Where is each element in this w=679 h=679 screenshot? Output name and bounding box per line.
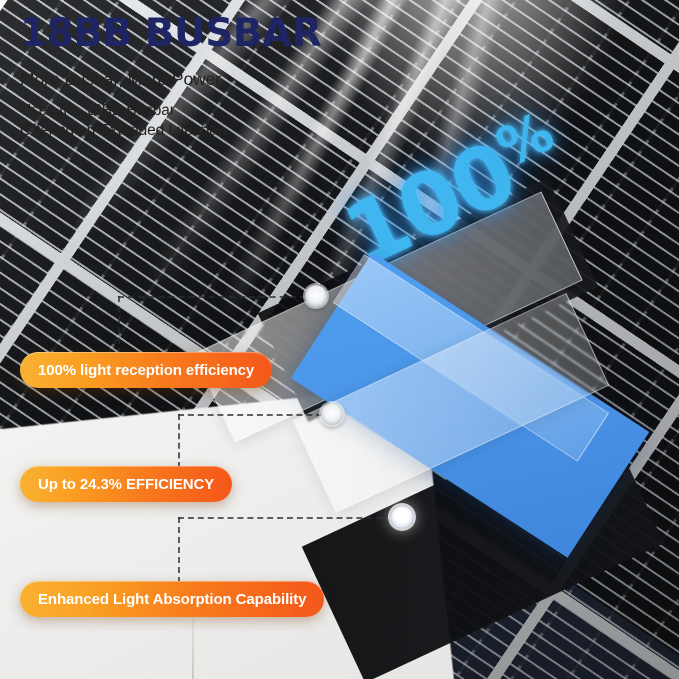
page-title: 18BB BUSBAR [20,14,440,55]
leader-line-2-vertical [178,414,180,468]
feature-badge-light-absorption[interactable]: Enhanced Light Absorption Capability [20,581,324,617]
leader-line-1-vertical [118,296,120,354]
marker-dot-middle [321,403,343,425]
feature-badge-label: Enhanced Light Absorption Capability [38,591,306,608]
marker-dot-top [305,285,327,307]
feature-badge-light-reception[interactable]: 100% light reception efficiency [20,352,272,388]
feature-badge-label: Up to 24.3% EFFICIENCY [38,476,214,493]
leader-line-3-horizontal [178,517,402,519]
feature-badge-label: 100% light reception efficiency [38,362,254,379]
headline-block: 18BB BUSBAR More Busbar, More Power. Use… [20,14,440,141]
description: Uses the 18BB BusbarOffering an Extended… [20,101,440,141]
leader-line-2-horizontal [178,414,332,416]
tagline: More Busbar, More Power. [20,69,440,90]
marker-dot-bottom [391,506,413,528]
leader-line-1-horizontal [118,296,316,298]
product-feature-graphic: 100% 18BB BUSBAR More Busbar, More Power… [0,0,679,679]
feature-badge-efficiency[interactable]: Up to 24.3% EFFICIENCY [20,466,232,502]
leader-line-3-vertical [178,517,180,583]
